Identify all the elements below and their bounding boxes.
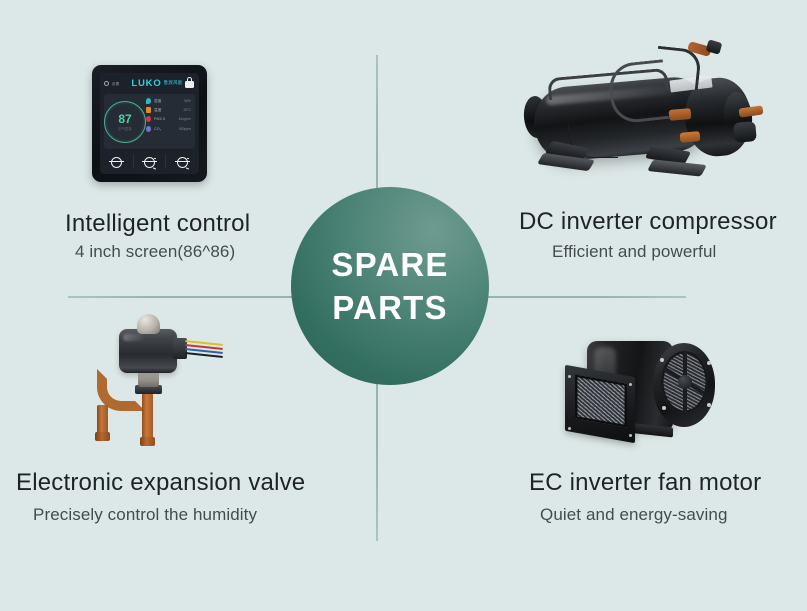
reading-value: 500ppm <box>179 127 193 131</box>
purify-mode-icon[interactable] <box>142 157 157 168</box>
reading-value: 54% <box>184 99 193 103</box>
mounting-foot <box>647 159 707 176</box>
badge-line-2: PARTS <box>332 286 447 329</box>
thermostat-statusbar: 设置 LUKO 鲁渡风能 <box>100 73 199 93</box>
humidify-mode-icon[interactable] <box>175 157 190 168</box>
valve-coil-body <box>119 329 177 373</box>
subtitle-ec-inverter-fan-motor: Quiet and energy-saving <box>540 505 728 525</box>
brand-logo-cn: 鲁渡风能 <box>164 80 183 86</box>
copper-pipe-right-tip <box>140 437 155 446</box>
thermostat-screen: 设置 LUKO 鲁渡风能 87 空气质量 湿度 <box>100 73 199 174</box>
humidity-icon <box>146 98 151 104</box>
ec-inverter-fan-motor-image <box>565 335 730 455</box>
list-item: CO₂ 500ppm <box>146 126 193 132</box>
air-quality-gauge-wrap: 87 空气质量 <box>104 94 146 149</box>
lock-icon[interactable] <box>185 77 194 88</box>
spare-parts-badge: SPARE PARTS <box>291 187 489 385</box>
bolt-icon <box>629 434 632 437</box>
pm25-icon <box>146 116 151 122</box>
reading-value: 26°C <box>183 108 193 112</box>
reading-label: CO₂ <box>154 127 170 131</box>
page-title-dc-inverter-compressor: DC inverter compressor <box>519 208 777 236</box>
sensor-readings-list: 湿度 54% 温度 26°C PM2.5 45ug/m³ <box>146 94 195 149</box>
settings-label: 设置 <box>112 81 119 86</box>
brand-logo: LUKO <box>131 78 161 89</box>
reading-label: 温度 <box>154 108 170 113</box>
reading-value: 45ug/m³ <box>179 117 193 121</box>
copper-port-icon <box>738 105 763 117</box>
copper-port-icon <box>669 108 692 121</box>
thermostat-mode-buttons <box>100 151 199 173</box>
blower-outlet-opening <box>575 374 627 427</box>
dc-inverter-compressor-image <box>510 38 775 193</box>
valve-stem <box>138 371 159 387</box>
gear-icon[interactable] <box>104 81 109 86</box>
page-title-ec-inverter-fan-motor: EC inverter fan motor <box>529 469 761 497</box>
thermostat-readout-panel: 87 空气质量 湿度 54% 温度 26°C <box>104 94 195 149</box>
copper-port-icon <box>680 131 701 143</box>
gauge-unit: 空气质量 <box>118 126 132 131</box>
copper-pipe-left-tip <box>95 432 110 441</box>
compressor-terminal-box <box>733 121 757 143</box>
electronic-expansion-valve-image <box>85 305 220 445</box>
page-title-electronic-expansion-valve: Electronic expansion valve <box>16 469 305 497</box>
screw-icon <box>707 361 711 365</box>
screw-icon <box>707 403 711 407</box>
reading-label: 湿度 <box>154 99 170 104</box>
air-quality-gauge: 87 空气质量 <box>104 101 146 143</box>
page-title-intelligent-control: Intelligent control <box>65 210 250 238</box>
bolt-icon <box>629 383 632 386</box>
blower-hub <box>678 375 692 389</box>
fan-mode-icon[interactable] <box>109 157 124 168</box>
reading-label: PM2.5 <box>154 117 170 121</box>
valve-dome-cap <box>137 314 160 334</box>
intelligent-control-image: 设置 LUKO 鲁渡风能 87 空气质量 湿度 <box>92 65 207 182</box>
list-item: PM2.5 45ug/m³ <box>146 116 193 122</box>
screw-icon <box>660 358 664 362</box>
list-item: 湿度 54% <box>146 98 193 104</box>
gauge-value: 87 <box>118 113 131 125</box>
subtitle-dc-inverter-compressor: Efficient and powerful <box>552 242 716 262</box>
badge-line-1: SPARE <box>331 243 448 286</box>
infographic-stage: 设置 LUKO 鲁渡风能 87 空气质量 湿度 <box>0 0 807 611</box>
bolt-icon <box>568 427 571 430</box>
bolt-icon <box>568 375 571 378</box>
temperature-icon <box>146 107 151 113</box>
list-item: 温度 26°C <box>146 107 193 113</box>
subtitle-intelligent-control: 4 inch screen(86^86) <box>75 242 235 262</box>
screw-icon <box>662 406 666 410</box>
subtitle-electronic-expansion-valve: Precisely control the humidity <box>33 505 257 525</box>
co2-icon <box>146 126 151 132</box>
